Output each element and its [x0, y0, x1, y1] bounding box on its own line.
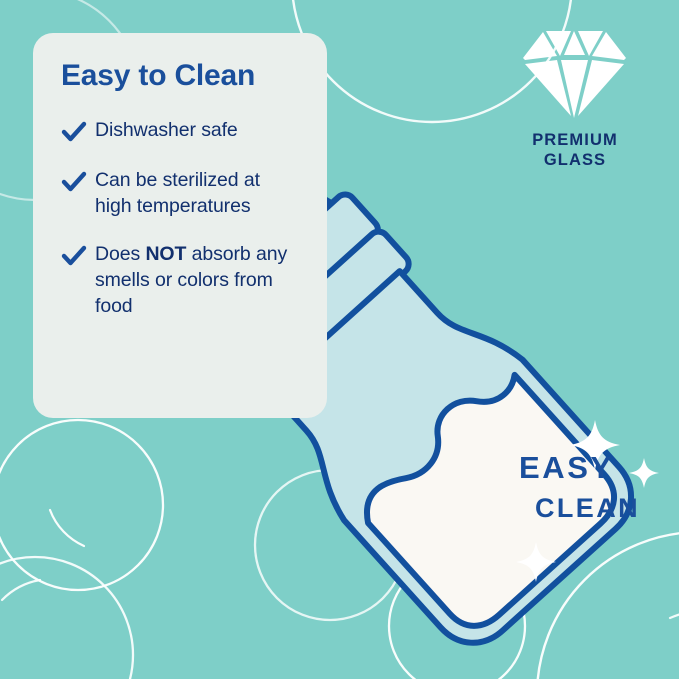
benefit-text: Does NOT absorb any smells or colors fro… — [95, 242, 301, 319]
page-title: Easy to Clean — [61, 59, 301, 92]
benefit-text: Can be sterilized at high temperatures — [95, 168, 301, 219]
product-feature-graphic: Easy to Clean Dishwasher safe Can be ste… — [0, 0, 679, 679]
sparkle-icon — [516, 542, 556, 582]
benefit-text-main: Can be sterilized at high temperatures — [95, 169, 260, 217]
feature-card: Easy to Clean Dishwasher safe Can be ste… — [33, 33, 327, 418]
check-icon — [61, 243, 87, 269]
check-icon — [61, 169, 87, 195]
easy-clean-wordmark: EASY CLEAN — [519, 452, 659, 522]
diamond-icon — [521, 28, 629, 120]
benefit-text-prefix: Does — [95, 243, 145, 265]
sparkle-group-lower — [506, 534, 586, 614]
list-item: Dishwasher safe — [61, 118, 301, 145]
list-item: Can be sterilized at high temperatures — [61, 168, 301, 219]
benefit-text-main: Dishwasher safe — [95, 119, 238, 141]
premium-glass-badge: PREMIUM GLASS — [505, 28, 645, 170]
list-item: Does NOT absorb any smells or colors fro… — [61, 242, 301, 319]
check-icon — [61, 119, 87, 145]
benefit-text: Dishwasher safe — [95, 118, 238, 144]
benefit-text-emphasis: NOT — [145, 243, 186, 265]
premium-glass-label: PREMIUM GLASS — [505, 130, 645, 170]
easy-clean-line1: EASY — [519, 452, 659, 483]
easy-clean-line2: CLEAN — [535, 495, 659, 522]
